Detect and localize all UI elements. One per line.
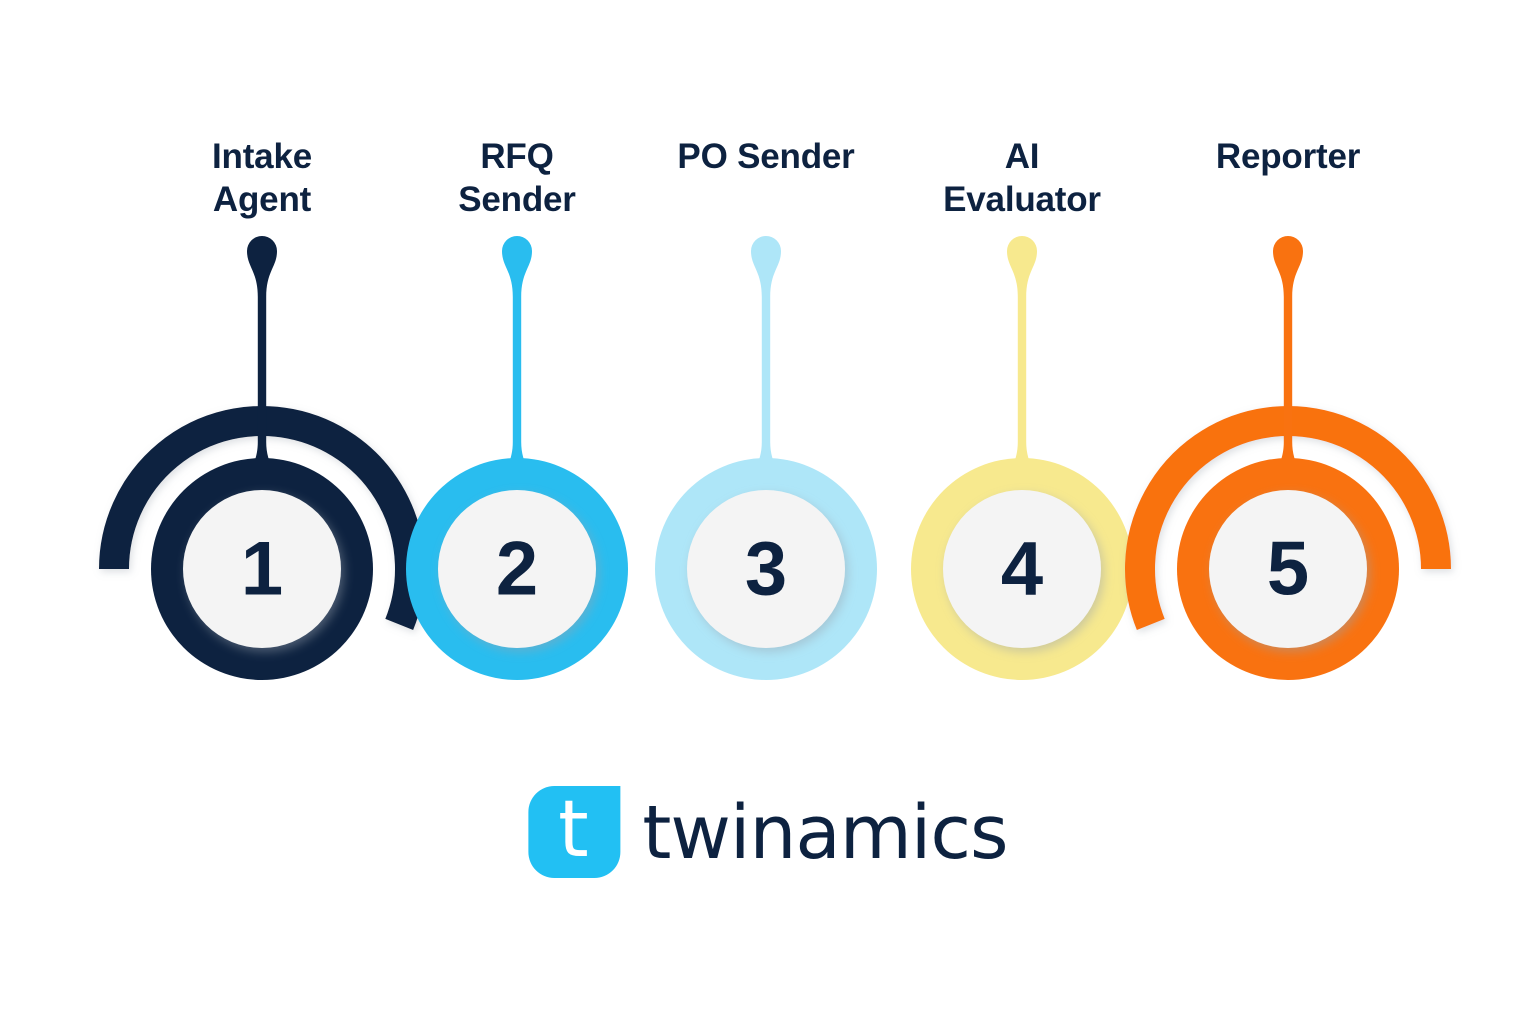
step-number: 1 xyxy=(241,527,283,612)
step-pin-connector xyxy=(228,236,296,492)
logo-mark-icon: t xyxy=(528,786,620,878)
process-step-1[interactable]: 1 xyxy=(114,236,410,680)
step-pin-connector xyxy=(483,236,551,492)
process-step-3[interactable]: 3 xyxy=(655,236,877,680)
step-label-4: AI Evaluator xyxy=(943,136,1101,221)
process-step-5[interactable]: 5 xyxy=(1140,236,1436,680)
step-label-2: RFQ Sender xyxy=(458,136,575,221)
logo-wordmark: twinamics xyxy=(642,796,1007,870)
step-pin-connector xyxy=(732,236,800,492)
step-number: 5 xyxy=(1267,527,1309,612)
step-label-1: Intake Agent xyxy=(212,136,312,221)
step-pin-connector xyxy=(1254,236,1322,492)
process-step-2[interactable]: 2 xyxy=(406,236,628,680)
step-pin-connector xyxy=(988,236,1056,492)
step-number: 4 xyxy=(1001,527,1043,612)
brand-logo: t twinamics xyxy=(528,786,1007,878)
step-label-3: PO Sender xyxy=(677,136,854,179)
step-label-5: Reporter xyxy=(1216,136,1360,179)
logo-mark-letter: t xyxy=(558,791,589,869)
step-number: 2 xyxy=(496,527,538,612)
infographic-canvas: 12345 Intake Agent RFQ Sender PO Sender … xyxy=(0,0,1536,1024)
step-number: 3 xyxy=(745,527,787,612)
process-step-4[interactable]: 4 xyxy=(911,236,1133,680)
